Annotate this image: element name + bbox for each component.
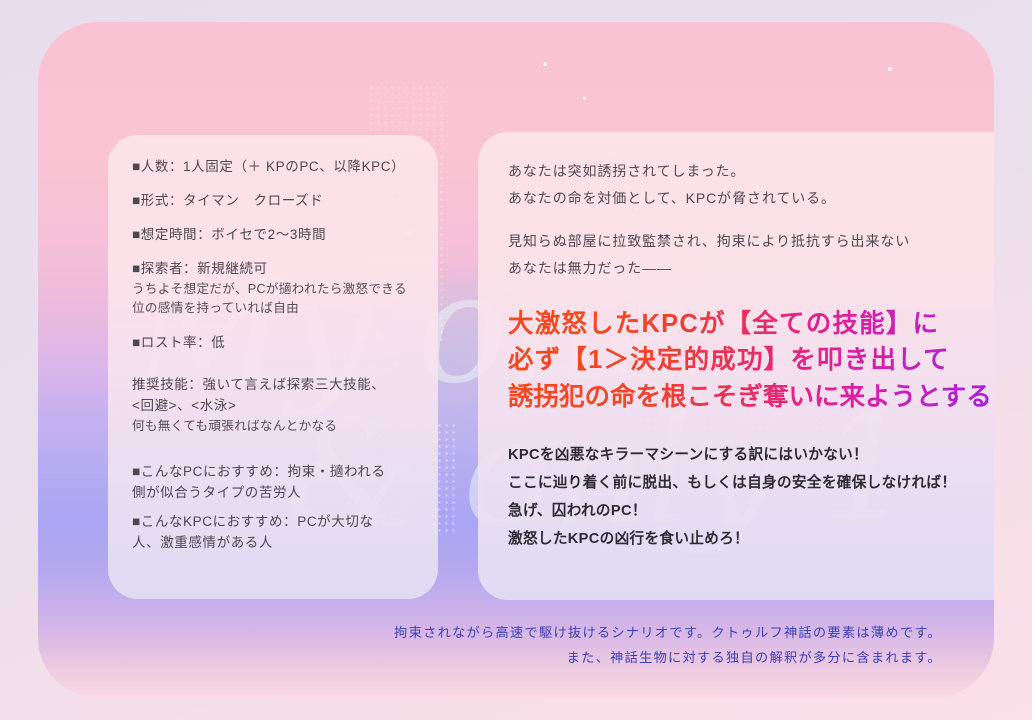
cta-line-3: 急げ、囚われのPC！: [508, 503, 647, 519]
story-call-to-action: KPCを凶悪なキラーマシーンにする訳にはいかない！ ここに辿り着く前に脱出、もし…: [508, 441, 994, 553]
story-intro-line-2: あなたの命を対価として、KPCが脅されている。: [508, 190, 836, 206]
info-recommend-kpc-line-2: 人、激重感情がある人: [132, 533, 416, 554]
info-investigator-note-1: うちよそ想定だが、PCが擿われたら激怒できる: [132, 280, 416, 299]
spacer: [132, 317, 416, 333]
info-skills-line-1: 推奨技能：強いて言えば探索三大技能、: [132, 375, 416, 396]
headline-line-2: 必ず【1＞決定的成功】を叩き出して: [508, 346, 950, 374]
spacer: [132, 504, 416, 512]
info-recommend-pc-line-2: 側が似合うタイプの苦労人: [132, 483, 416, 504]
sparkle-dot: [888, 67, 892, 71]
info-format: ■形式：タイマン クローズド: [132, 191, 416, 212]
scenario-story-panel: あなたは突如誘拐されてしまった。 あなたの命を対価として、KPCが脅されている。…: [478, 132, 994, 600]
footer-note: 拘束されながら高速で駆け抜けるシナリオです。クトゥルフ神話の要素は薄めです。 ま…: [38, 620, 942, 670]
info-recommend-pc-line-1: ■こんなPCにおすすめ：拘束・擿われる: [132, 462, 416, 483]
info-skills-note: 何も無くても頑張ればなんとかなる: [132, 417, 416, 436]
info-duration: ■想定時間：ボイセで2〜3時間: [132, 225, 416, 246]
info-investigator: ■探索者：新規継続可: [132, 259, 416, 280]
spacer: [132, 367, 416, 375]
headline-line-3: 誘拐犯の命を根こそぎ奪いに来ようとするまでは。: [508, 383, 994, 411]
scenario-info-panel: ■人数：1人固定（＋ KPのPC、以降KPC） ■形式：タイマン クローズド ■…: [108, 135, 438, 599]
spacer: [132, 436, 416, 462]
story-intro-line-1: あなたは突如誘拐されてしまった。: [508, 163, 745, 179]
sparkle-dot: [543, 62, 547, 66]
scenario-card: My one & only 1 ■人数：1人固定（＋ KPのPC、以降KPC） …: [38, 22, 994, 698]
story-headline: 大激怒したKPCが【全ての技能】に 必ず【1＞決定的成功】を叩き出して 誘拐犯の…: [508, 306, 994, 415]
headline-line-1: 大激怒したKPCが【全ての技能】に: [508, 310, 939, 338]
cta-line-2: ここに辿り着く前に脱出、もしくは自身の安全を確保しなければ！: [508, 475, 956, 491]
info-players: ■人数：1人固定（＋ KPのPC、以降KPC）: [132, 157, 416, 178]
page-background: My one & only 1 ■人数：1人固定（＋ KPのPC、以降KPC） …: [0, 0, 1032, 720]
spacer: [508, 213, 994, 228]
info-investigator-note-2: 位の感情を持っていれば自由: [132, 299, 416, 318]
info-recommend-kpc-line-1: ■こんなKPCにおすすめ：PCが大切な: [132, 512, 416, 533]
cta-line-4: 激怒したKPCの凶行を食い止めろ！: [508, 531, 749, 547]
story-intro2-line-1: 見知らぬ部屋に拉致監禁され、拘束により抵抗すら出来ない: [508, 233, 910, 249]
info-skills-line-2: <回避>、<水泳>: [132, 396, 416, 417]
footer-line-2: また、神話生物に対する独自の解釈が多分に含まれます。: [38, 645, 942, 670]
footer-line-1: 拘束されながら高速で駆け抜けるシナリオです。クトゥルフ神話の要素は薄めです。: [38, 620, 942, 645]
story-intro2-line-2: あなたは無力だった――: [508, 260, 672, 276]
sparkle-dot: [583, 97, 586, 100]
cta-line-1: KPCを凶悪なキラーマシーンにする訳にはいかない！: [508, 447, 868, 463]
info-lost-rate: ■ロスト率：低: [132, 333, 416, 354]
story-intro: あなたは突如誘拐されてしまった。 あなたの命を対価として、KPCが脅されている。…: [508, 158, 994, 282]
